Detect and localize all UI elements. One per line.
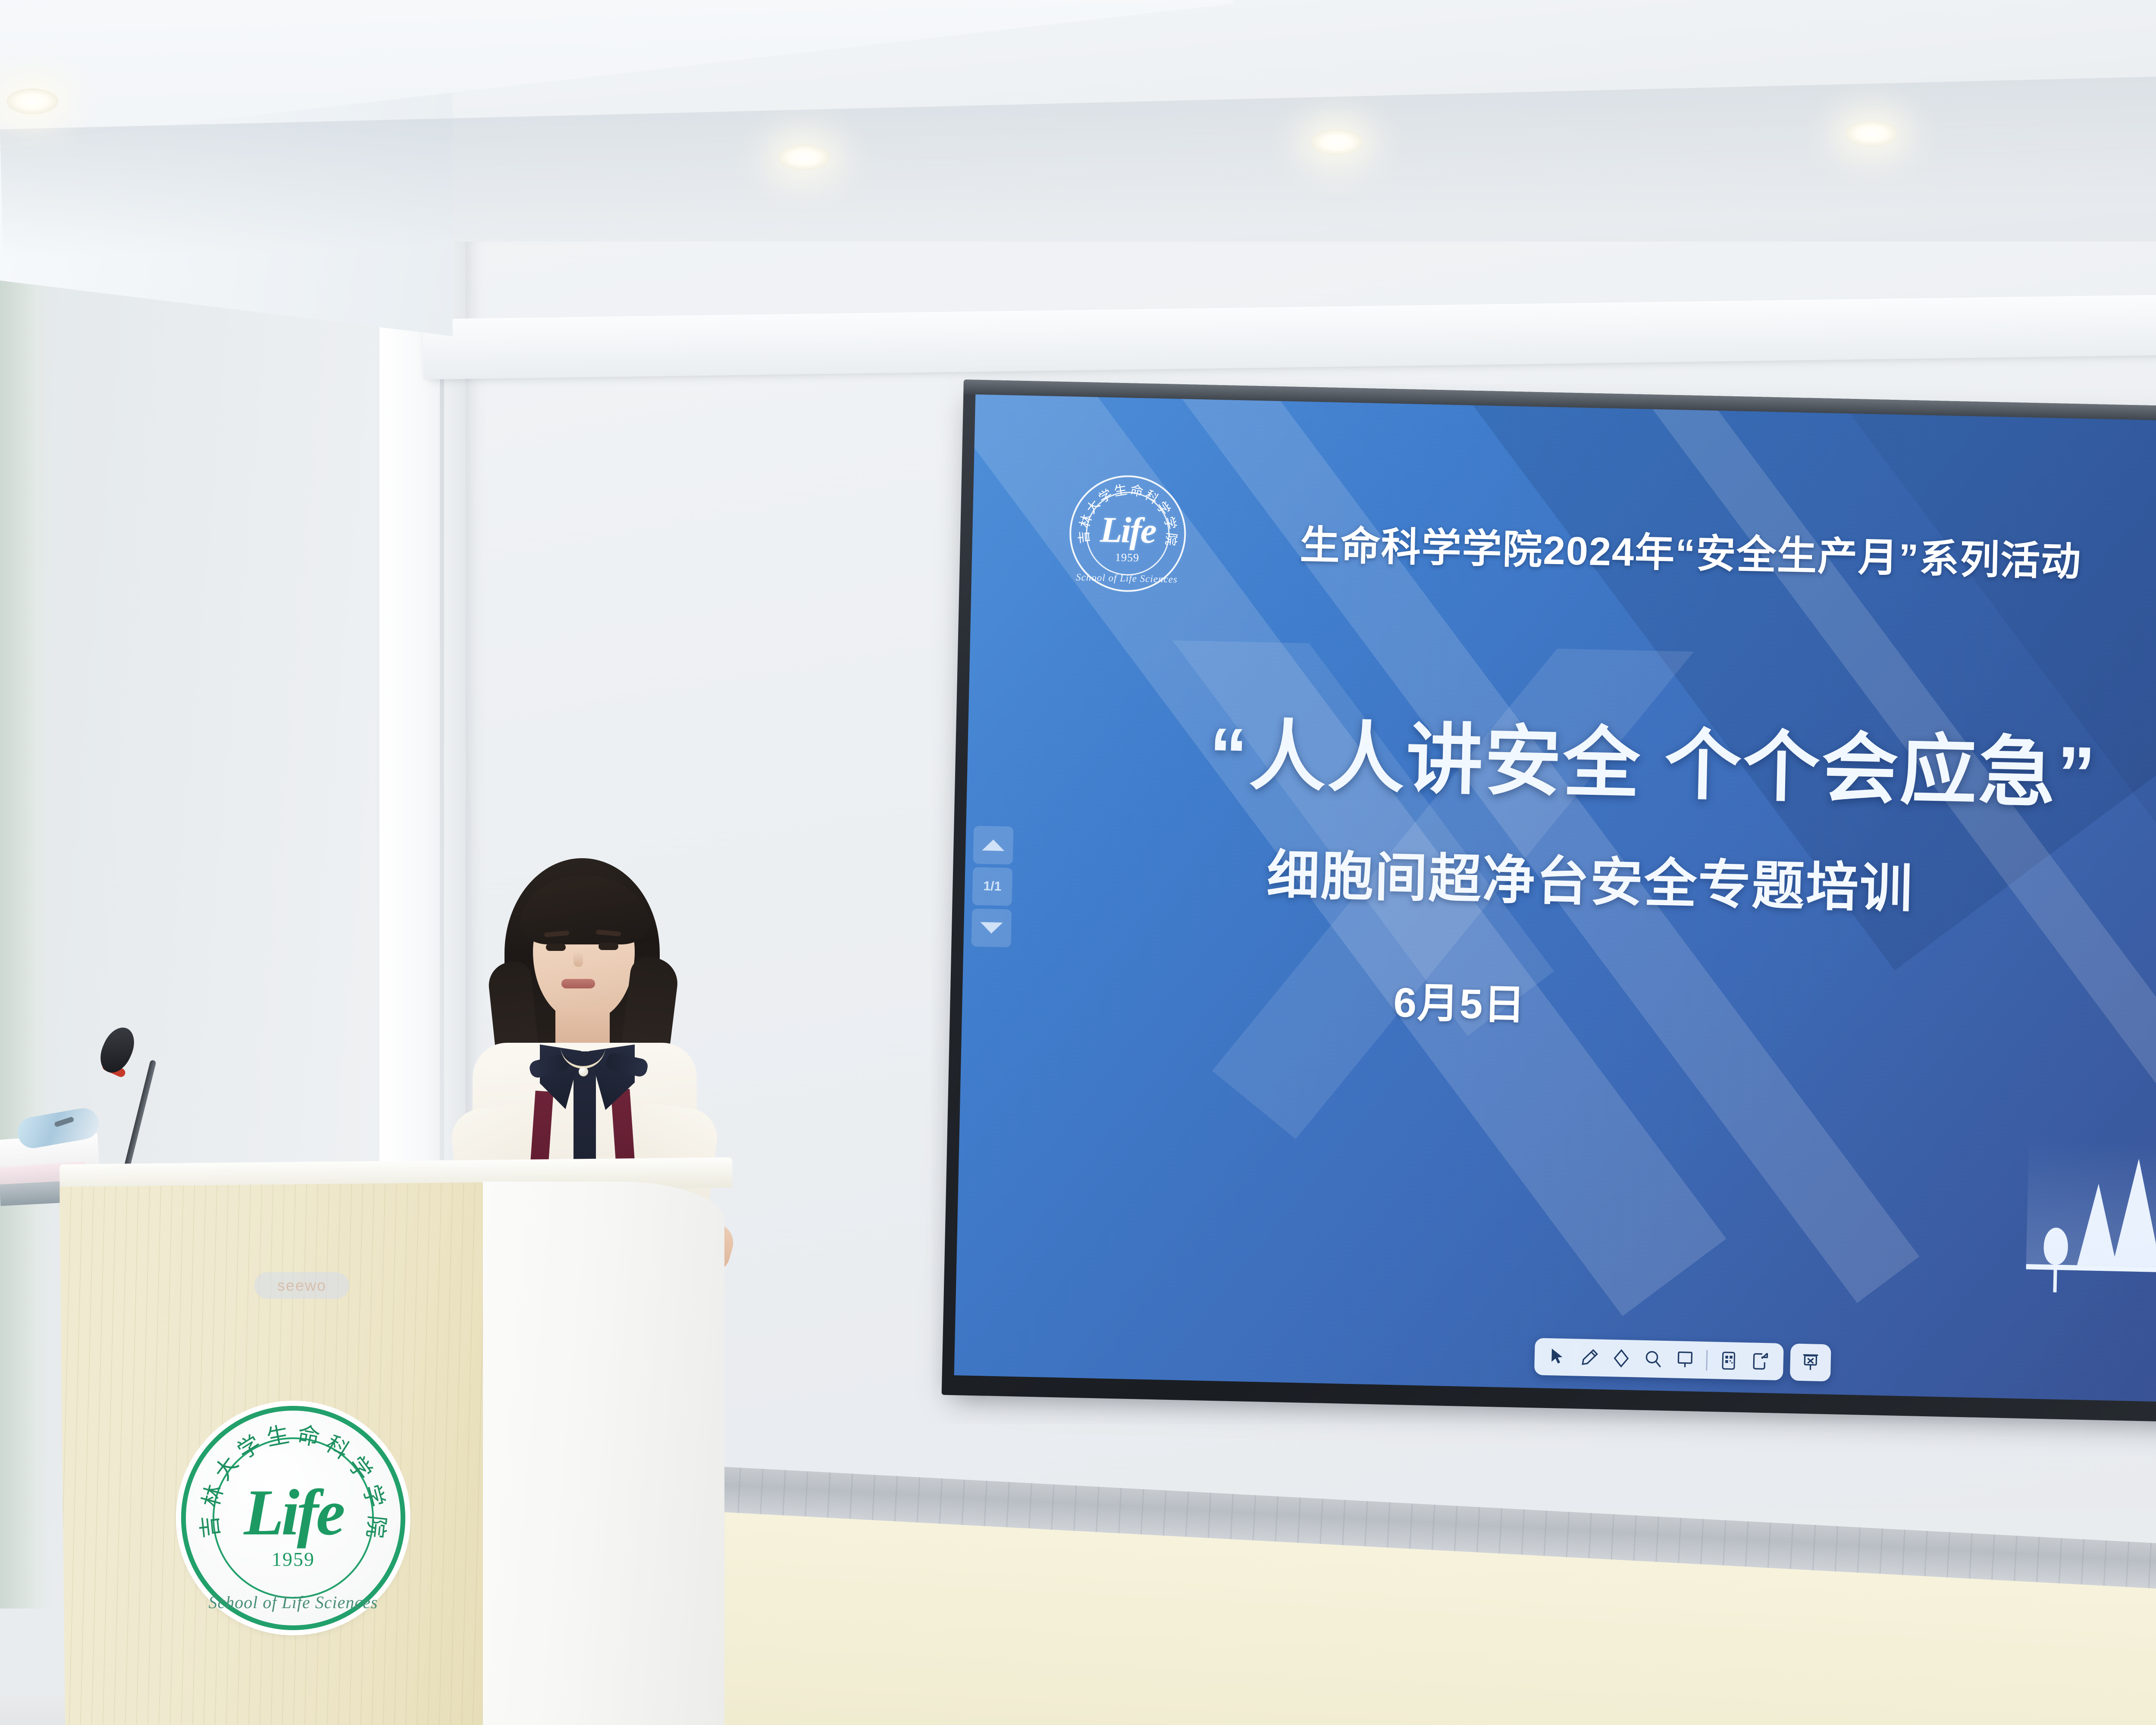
eye-right bbox=[599, 943, 618, 950]
whiteboard-icon[interactable] bbox=[1671, 1346, 1698, 1373]
slide-page-indicator: 1/1 bbox=[972, 867, 1012, 906]
eye-left bbox=[546, 944, 566, 951]
lectern-brand-badge: seewo bbox=[254, 1272, 349, 1299]
toolbar-exit-group[interactable] bbox=[1790, 1343, 1831, 1381]
chevron-up-icon bbox=[982, 839, 1005, 851]
qrcode-icon[interactable] bbox=[1715, 1347, 1742, 1374]
interactive-smart-display[interactable]: 吉林大学生命科学学院 Life 1959 School of Life Scie… bbox=[942, 379, 2156, 1430]
lectern-white-front bbox=[483, 1182, 724, 1725]
emblem-year: 1959 bbox=[1071, 550, 1184, 566]
share-icon[interactable] bbox=[1747, 1348, 1774, 1375]
ceiling-light-2 bbox=[778, 144, 830, 170]
nose bbox=[573, 951, 583, 967]
slide-school-emblem: 吉林大学生命科学学院 Life 1959 School of Life Scie… bbox=[1068, 474, 1187, 593]
slide-main-title: “人人讲安全 个个会应急” bbox=[1208, 693, 2099, 823]
slide-prev-button[interactable] bbox=[973, 826, 1014, 865]
cursor-icon[interactable] bbox=[1544, 1343, 1571, 1371]
presentation-toolbar[interactable] bbox=[1534, 1338, 1831, 1381]
slide-campus-illustration: 生命科学楼 bbox=[2026, 1028, 2156, 1281]
ceiling-light-3 bbox=[1311, 129, 1363, 155]
slide-date: 6月5日 bbox=[1393, 969, 1526, 1032]
wall-edge-shading bbox=[0, 185, 52, 1609]
emblem-wordmark: Life bbox=[1100, 512, 1156, 549]
toolbar-separator bbox=[1706, 1350, 1708, 1371]
slide-next-button[interactable] bbox=[971, 909, 1012, 947]
ceiling-light-1 bbox=[6, 88, 58, 114]
chevron-down-icon bbox=[980, 922, 1003, 934]
mouth bbox=[561, 979, 595, 988]
screenshot-root: 吉林大学生命科学学院 Life 1959 School of Life Scie… bbox=[0, 0, 2156, 1725]
necklace-pendant bbox=[579, 1067, 588, 1076]
lectern-school-emblem: 吉林大学生命科学学院 Life 1959 School of Life Scie… bbox=[181, 1406, 405, 1630]
ceiling-light-4 bbox=[1846, 121, 1897, 147]
exit-presentation-icon[interactable] bbox=[1797, 1349, 1824, 1376]
emblem-year: 1959 bbox=[186, 1548, 401, 1571]
pen-icon[interactable] bbox=[1576, 1344, 1603, 1371]
display-screen[interactable]: 吉林大学生命科学学院 Life 1959 School of Life Scie… bbox=[954, 395, 2156, 1411]
emblem-english-text: School of Life Sciences bbox=[186, 1592, 401, 1612]
slide-subtitle: 细胞间超净台安全专题培训 bbox=[1266, 832, 1915, 923]
emblem-wordmark: Life bbox=[244, 1480, 342, 1545]
slide-side-navigation[interactable]: 1/1 bbox=[971, 826, 1013, 951]
lectern: seewo 吉林大学生命科学学院 Life 1959 School of Lif… bbox=[52, 1164, 785, 1725]
magnifier-icon[interactable] bbox=[1639, 1345, 1667, 1373]
illustration-reflection bbox=[2026, 1140, 2156, 1281]
toolbar-primary-group[interactable] bbox=[1534, 1338, 1784, 1380]
eraser-icon[interactable] bbox=[1608, 1345, 1635, 1372]
